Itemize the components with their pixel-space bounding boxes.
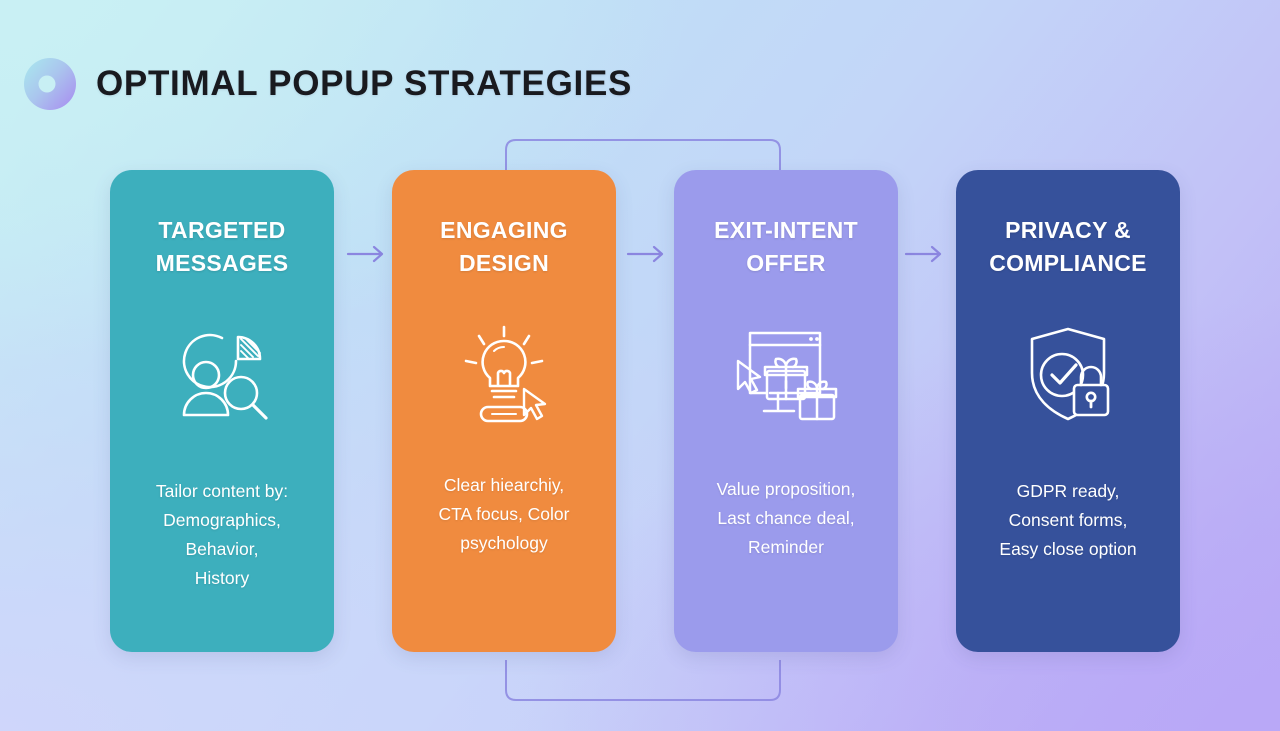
card-title: EXIT-INTENT OFFER bbox=[714, 214, 858, 279]
card-description: GDPR ready, Consent forms, Easy close op… bbox=[999, 477, 1136, 564]
flow-card-exit-intent-offer[interactable]: EXIT-INTENT OFFER bbox=[674, 170, 898, 652]
card-description: Value proposition, Last chance deal, Rem… bbox=[717, 475, 856, 562]
process-flow-diagram: TARGETED MESSAGES Tailor content by: Dem… bbox=[0, 0, 1280, 731]
flow-card-list: TARGETED MESSAGES Tailor content by: Dem… bbox=[110, 170, 1180, 660]
top-loop-path bbox=[506, 140, 780, 172]
card-description: Tailor content by: Demographics, Behavio… bbox=[156, 477, 288, 593]
flow-card-engaging-design[interactable]: ENGAGING DESIGN bbox=[392, 170, 616, 652]
flow-card-targeted-messages[interactable]: TARGETED MESSAGES Tailor content by: Dem… bbox=[110, 170, 334, 652]
card-title: TARGETED MESSAGES bbox=[156, 214, 289, 279]
audience-segmentation-icon bbox=[168, 321, 276, 425]
card-description: Clear hiearchiy, CTA focus, Color psycho… bbox=[439, 471, 570, 558]
shield-check-lock-icon bbox=[1014, 321, 1122, 425]
lightbulb-click-icon bbox=[450, 321, 558, 425]
bottom-loop-path bbox=[506, 660, 780, 700]
card-title: PRIVACY & COMPLIANCE bbox=[989, 214, 1147, 279]
browser-gift-cursor-icon bbox=[732, 321, 840, 425]
flow-card-privacy-compliance[interactable]: PRIVACY & COMPLIANCE GDPR ready, Consent… bbox=[956, 170, 1180, 652]
card-title: ENGAGING DESIGN bbox=[440, 214, 568, 279]
